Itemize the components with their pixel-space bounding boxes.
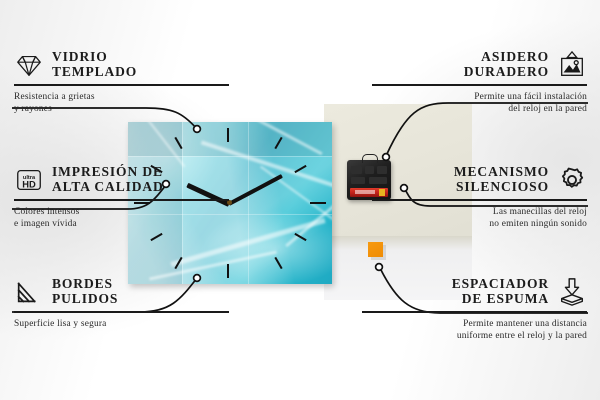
feature-title-line1: BORDES: [52, 277, 118, 292]
foam-spacer-arrow-icon: [557, 277, 587, 307]
ultra-hd-badge-icon: ultra HD: [14, 165, 44, 195]
divider: [372, 199, 587, 201]
feature-subtitle-line2: no emiten ningún sonido: [372, 218, 587, 231]
feature-subtitle-line1: Resistencia a grietas: [14, 91, 229, 104]
feature-title-line1: ASIDERO: [464, 50, 549, 65]
feature-title-line2: SILENCIOSO: [454, 180, 549, 195]
feature-subtitle-line2: y rayones: [14, 103, 229, 116]
feature-subtitle-line2: e imagen vívida: [14, 218, 229, 231]
feature-mecanismo-silencioso: MECANISMO SILENCIOSO Las manecillas del …: [372, 165, 587, 231]
clock-minute-hand: [228, 174, 283, 206]
divider: [14, 199, 229, 201]
divider: [14, 311, 229, 313]
feature-title-line2: PULIDOS: [52, 292, 118, 307]
diamond-icon: [14, 50, 44, 80]
feature-asidero-duradero: ASIDERO DURADERO Permite una fácil insta…: [372, 50, 587, 116]
feature-title-line2: TEMPLADO: [52, 65, 137, 80]
feature-title-line2: DURADERO: [464, 65, 549, 80]
feature-title-line1: MECANISMO: [454, 165, 549, 180]
feature-espaciador-de-espuma: ESPACIADOR DE ESPUMA Permite mantener un…: [362, 277, 587, 343]
gear-icon: [557, 165, 587, 195]
clock-tick: [274, 257, 282, 269]
divider: [14, 84, 229, 86]
feature-bordes-pulidos: BORDES PULIDOS Superficie lisa y segura: [14, 277, 229, 330]
feature-subtitle-line2: uniforme entre el reloj y la pared: [362, 330, 587, 343]
feature-subtitle-line1: Superficie lisa y segura: [14, 318, 229, 331]
feature-title-line1: ESPACIADOR: [452, 277, 549, 292]
divider: [362, 311, 587, 313]
feature-vidrio-templado: VIDRIO TEMPLADO Resistencia a grietas y …: [14, 50, 229, 116]
clock-tick: [227, 128, 229, 142]
feature-subtitle-line1: Las manecillas del reloj: [372, 206, 587, 219]
hanger-hook-icon: [362, 154, 378, 163]
ultra-hd-large-label: HD: [22, 180, 36, 190]
feature-title-line2: DE ESPUMA: [452, 292, 549, 307]
wall-hanger-frame-icon: [557, 50, 587, 80]
infographic-canvas: VIDRIO TEMPLADO Resistencia a grietas y …: [0, 0, 600, 400]
feature-subtitle-line1: Colores intensos: [14, 206, 229, 219]
feature-title-line1: IMPRESIÓN DE: [52, 165, 164, 180]
feature-subtitle-line2: del reloj en la pared: [372, 103, 587, 116]
divider: [372, 84, 587, 86]
feature-subtitle-line1: Permite una fácil instalación: [372, 91, 587, 104]
feature-impresion-alta-calidad: ultra HD IMPRESIÓN DE ALTA CALIDAD Color…: [14, 165, 229, 231]
feature-title-line2: ALTA CALIDAD: [52, 180, 164, 195]
foam-spacer: [368, 242, 383, 257]
polished-edges-icon: [14, 277, 44, 307]
feature-title-line1: VIDRIO: [52, 50, 137, 65]
feature-subtitle-line1: Permite mantener una distancia: [362, 318, 587, 331]
clock-tick: [227, 264, 229, 278]
clock-tick: [310, 202, 326, 204]
